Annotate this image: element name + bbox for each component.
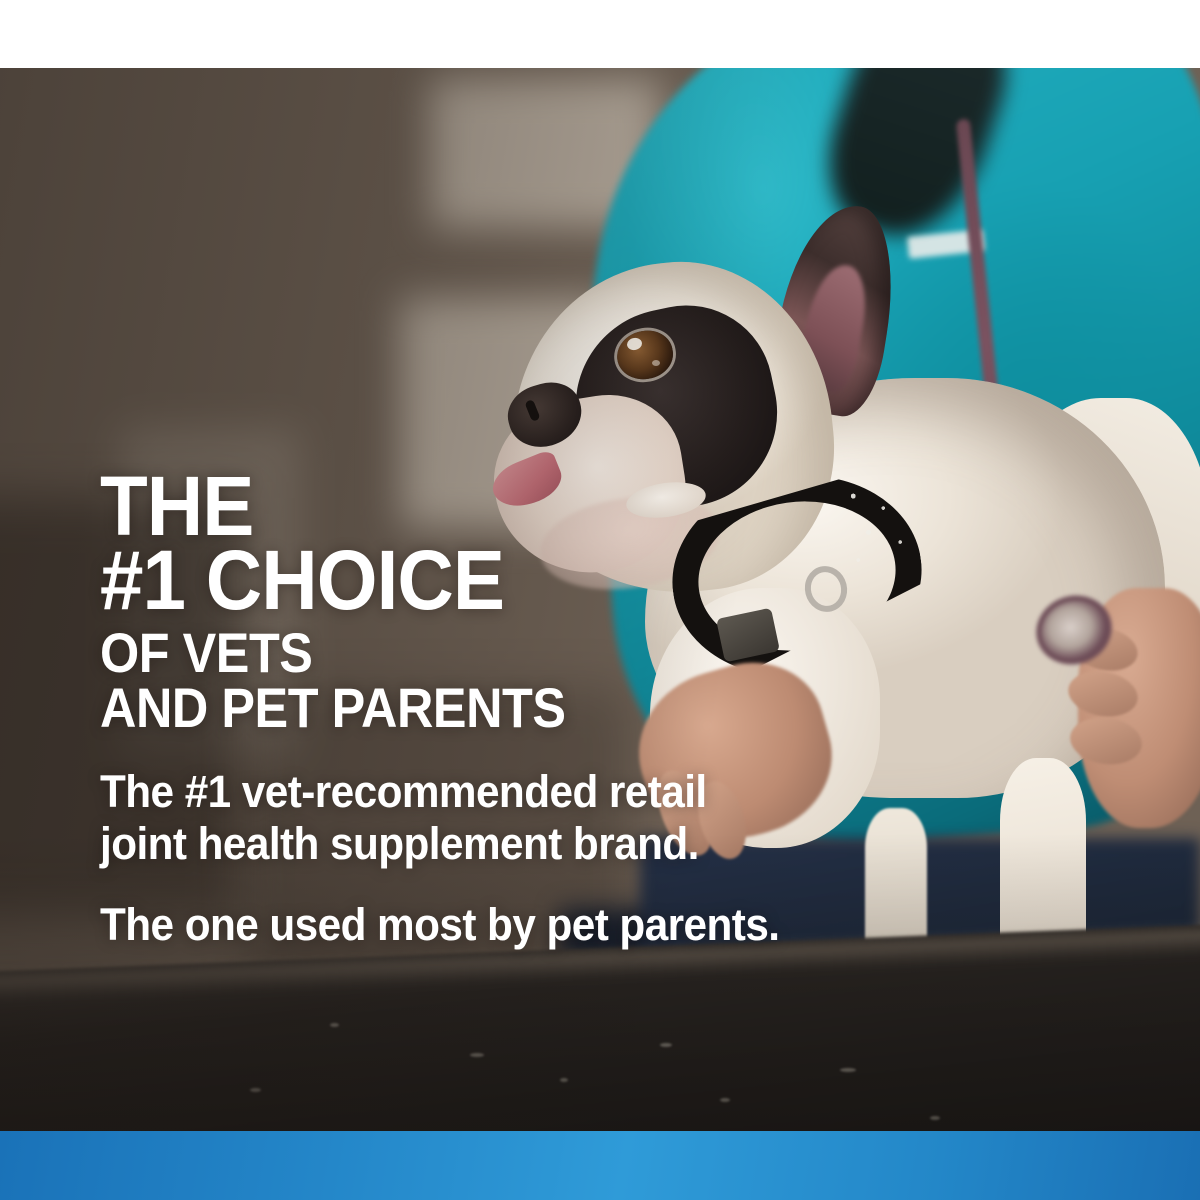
top-white-band — [0, 0, 1200, 68]
headline: THE #1 CHOICE OF VETS AND PET PARENTS — [100, 470, 1100, 732]
promo-banner: THE #1 CHOICE OF VETS AND PET PARENTS Th… — [0, 0, 1200, 1200]
headline-line-4: AND PET PARENTS — [100, 683, 1000, 732]
subcopy-spacer — [100, 869, 1100, 899]
table-speck — [250, 1088, 261, 1092]
subcopy-p2-line1: The one used most by pet parents. — [100, 899, 1040, 950]
headline-line-3: OF VETS — [100, 628, 1000, 677]
table-speck — [720, 1098, 730, 1102]
table-speck — [840, 1068, 856, 1072]
dog-eye-highlight-secondary — [652, 360, 660, 366]
subcopy-p1-line2: joint health supplement brand. — [100, 818, 1040, 869]
subcopy: The #1 vet-recommended retail joint heal… — [100, 766, 1100, 950]
table-speck — [660, 1043, 672, 1047]
table-speck — [560, 1078, 568, 1082]
table-speck — [330, 1023, 339, 1027]
copy-block: THE #1 CHOICE OF VETS AND PET PARENTS Th… — [100, 470, 1100, 950]
table-speck — [930, 1116, 940, 1120]
headline-line-2: #1 CHOICE — [100, 544, 1030, 618]
subcopy-p1-line1: The #1 vet-recommended retail — [100, 766, 1040, 817]
bottom-blue-bar — [0, 1131, 1200, 1200]
table-speck — [470, 1053, 484, 1057]
